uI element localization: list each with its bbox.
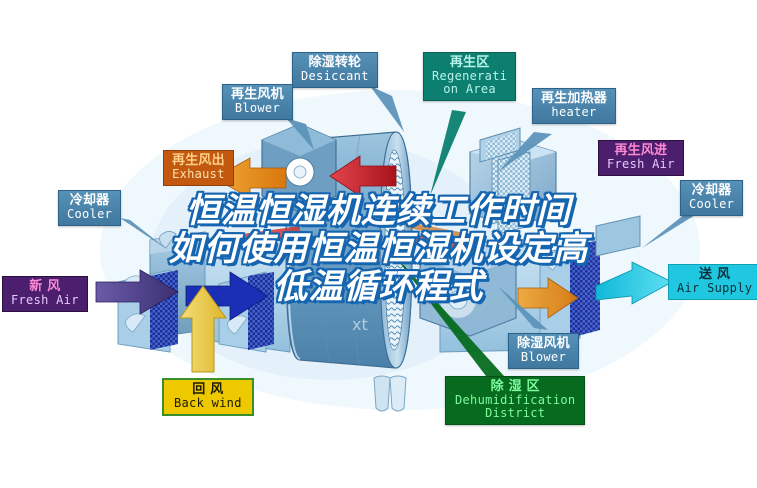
callout-regen-heater-en: heater [541, 106, 607, 119]
diagram-canvas: xt [0, 0, 757, 488]
callout-regen-air-inlet-en: Fresh Air [607, 158, 675, 171]
callout-cooler-left-cn: 冷却器 [67, 194, 112, 208]
callout-regen-heater-cn: 再生加热器 [541, 92, 607, 106]
heater-mesh-panel [498, 152, 530, 234]
watermark-text: xt [352, 315, 368, 334]
callout-back-wind-en: Back wind [174, 397, 242, 410]
callout-cooler-right-en: Cooler [689, 198, 734, 211]
callout-dehumid-en2: District [455, 407, 575, 420]
callout-dehumidification-district[interactable]: 除 湿 区 Dehumidification District [445, 376, 585, 425]
callout-air-supply-en: Air Supply [677, 282, 752, 295]
callout-back-wind-cn: 回 风 [174, 383, 242, 397]
callout-cooler-left-en: Cooler [67, 208, 112, 221]
callout-dehumid-cn: 除 湿 区 [455, 380, 575, 394]
callout-air-supply-cn: 送 风 [677, 268, 752, 282]
callout-cooler-right[interactable]: 冷却器 Cooler [680, 180, 743, 216]
callout-regen-air-inlet-cn: 再生风进 [607, 144, 675, 158]
callout-dehumid-blower[interactable]: 除湿风机 Blower [508, 333, 579, 369]
callout-fresh-air-inlet[interactable]: 新 风 Fresh Air [2, 276, 88, 312]
callout-desiccant-wheel[interactable]: 除湿转轮 Desiccant [292, 52, 378, 88]
callout-regeneration-area-en2: on Area [432, 83, 507, 96]
callout-desiccant-wheel-cn: 除湿转轮 [301, 56, 369, 70]
callout-fresh-air-inlet-cn: 新 风 [11, 280, 79, 294]
callout-regen-blower[interactable]: 再生风机 Blower [222, 84, 293, 120]
callout-air-supply[interactable]: 送 风 Air Supply [668, 264, 757, 300]
callout-desiccant-wheel-en: Desiccant [301, 70, 369, 83]
callout-regen-heater[interactable]: 再生加热器 heater [532, 88, 616, 124]
callout-cooler-right-cn: 冷却器 [689, 184, 734, 198]
callout-regen-air-inlet[interactable]: 再生风进 Fresh Air [598, 140, 684, 176]
callout-regen-exhaust[interactable]: 再生风出 Exhaust [163, 150, 234, 186]
callout-regeneration-area[interactable]: 再生区 Regenerati on Area [423, 52, 516, 101]
callout-cooler-left[interactable]: 冷却器 Cooler [58, 190, 121, 226]
callout-dehumid-blower-en: Blower [517, 351, 570, 364]
callout-regen-exhaust-cn: 再生风出 [172, 154, 225, 168]
callout-back-wind[interactable]: 回 风 Back wind [162, 378, 254, 416]
callout-regen-blower-cn: 再生风机 [231, 88, 284, 102]
dehumidification-blower [420, 240, 516, 336]
diagram-artwork: xt [0, 0, 757, 488]
callout-regeneration-area-cn: 再生区 [432, 56, 507, 70]
callout-regen-exhaust-en: Exhaust [172, 168, 225, 181]
callout-regen-blower-en: Blower [231, 102, 284, 115]
callout-dehumid-blower-cn: 除湿风机 [517, 337, 570, 351]
callout-fresh-air-inlet-en: Fresh Air [11, 294, 79, 307]
